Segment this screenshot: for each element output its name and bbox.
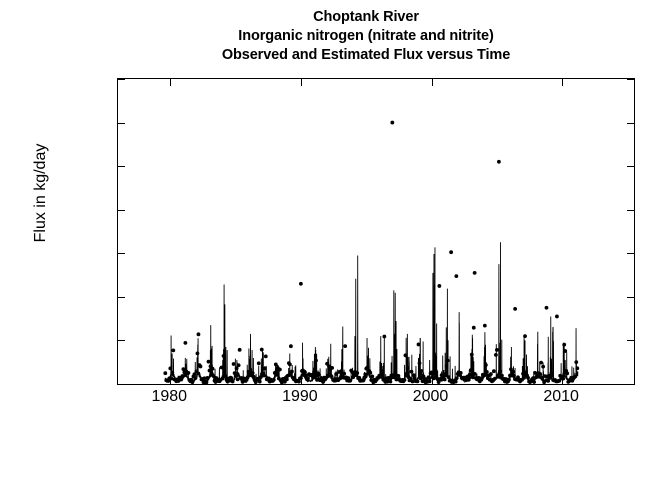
chart-title-line-3: Observed and Estimated Flux versus Time	[60, 46, 672, 65]
observed-point	[507, 378, 511, 382]
observed-point	[416, 380, 420, 384]
observed-point	[431, 372, 435, 376]
data-layer	[118, 79, 634, 384]
observed-point	[183, 341, 187, 345]
observed-point	[511, 370, 515, 374]
observed-point	[550, 373, 554, 377]
observed-point	[484, 363, 488, 367]
observed-point	[485, 370, 489, 374]
observed-point	[222, 354, 226, 358]
observed-point	[469, 368, 473, 372]
y-tick-right-0	[627, 384, 634, 385]
observed-point	[199, 365, 203, 369]
observed-point	[163, 371, 167, 375]
observed-point	[299, 282, 303, 286]
plot-inner	[118, 79, 634, 384]
observed-point	[444, 372, 448, 376]
y-tick-right-10000	[627, 166, 634, 167]
observed-point	[231, 380, 235, 384]
y-tick-right-2000	[627, 340, 634, 341]
observed-point	[532, 380, 536, 384]
observed-point	[262, 374, 266, 378]
observed-point	[498, 369, 502, 373]
observed-point	[274, 362, 278, 366]
observed-point	[417, 343, 421, 347]
y-tick-right-12000	[627, 123, 634, 124]
chart-title-line-1: Choptank River	[60, 8, 672, 27]
observed-point	[445, 364, 449, 368]
observed-point	[495, 348, 499, 352]
observed-point	[447, 375, 451, 379]
observed-point	[573, 375, 577, 379]
observed-point	[404, 353, 408, 357]
observed-point	[258, 380, 262, 384]
chart-title-line-2: Inorganic nitrogen (nitrate and nitrite)	[60, 27, 672, 46]
y-tick-2000	[118, 340, 125, 341]
x-tick-top-2000	[432, 79, 433, 86]
observed-point	[541, 365, 545, 369]
observed-point	[420, 369, 424, 373]
observed-point	[418, 361, 422, 365]
observed-point	[289, 344, 293, 348]
observed-point	[467, 378, 471, 382]
x-tick-top-1980	[170, 79, 171, 86]
observed-point	[545, 306, 549, 310]
estimated-flux-line	[165, 242, 578, 381]
x-tick-1990	[301, 377, 302, 384]
observed-point	[482, 374, 486, 378]
observed-point	[312, 370, 316, 374]
observed-point	[563, 349, 567, 353]
observed-point	[574, 360, 578, 364]
observed-point	[342, 372, 346, 376]
observed-point	[468, 373, 472, 377]
observed-point	[434, 369, 438, 373]
observed-point	[538, 372, 542, 376]
observed-point	[513, 307, 517, 311]
x-tick-2000	[432, 377, 433, 384]
observed-point	[220, 366, 224, 370]
observed-point	[455, 376, 459, 380]
observed-point	[246, 375, 250, 379]
observed-point	[523, 334, 527, 338]
observed-point	[522, 376, 526, 380]
observed-point	[526, 376, 530, 380]
x-tick-label-2000: 2000	[371, 389, 491, 405]
observed-point	[187, 371, 191, 375]
observed-point	[459, 371, 463, 375]
observed-point	[252, 375, 256, 379]
observed-point	[306, 376, 310, 380]
observed-point	[206, 376, 210, 380]
observed-point	[355, 371, 359, 375]
observed-point	[427, 375, 431, 379]
observed-point	[238, 348, 242, 352]
observed-point	[179, 377, 183, 381]
observed-point	[168, 367, 172, 371]
x-tick-label-1980: 1980	[109, 389, 229, 405]
observed-point	[194, 376, 198, 380]
observed-point	[237, 363, 241, 367]
observed-point	[470, 353, 474, 357]
observed-point	[363, 373, 367, 377]
observed-point	[403, 378, 407, 382]
observed-point	[196, 351, 200, 355]
observed-flux-points	[163, 121, 579, 384]
observed-point	[388, 380, 392, 384]
observed-point	[370, 375, 374, 379]
observed-point	[191, 380, 195, 384]
observed-point	[317, 373, 321, 377]
x-tick-2010	[562, 377, 563, 384]
figure-canvas: Choptank River Inorganic nitrogen (nitra…	[0, 0, 672, 480]
observed-point	[368, 371, 372, 375]
observed-point	[492, 369, 496, 373]
observed-point	[212, 374, 216, 378]
y-tick-right-4000	[627, 297, 634, 298]
observed-point	[397, 374, 401, 378]
observed-point	[472, 326, 476, 330]
observed-point	[405, 372, 409, 376]
x-tick-top-1990	[301, 79, 302, 86]
observed-point	[473, 372, 477, 376]
x-tick-1980	[170, 377, 171, 384]
observed-point	[260, 348, 264, 352]
y-tick-10000	[118, 166, 125, 167]
observed-point	[539, 361, 543, 365]
observed-point	[197, 332, 201, 336]
observed-point	[555, 315, 559, 319]
observed-point	[257, 361, 261, 365]
observed-point	[449, 250, 453, 254]
observed-point	[288, 362, 292, 366]
observed-point	[390, 121, 394, 125]
observed-point	[497, 160, 501, 164]
observed-point	[473, 271, 477, 275]
observed-point	[278, 368, 282, 372]
y-tick-right-8000	[627, 210, 634, 211]
observed-point	[285, 378, 289, 382]
observed-point	[483, 324, 487, 328]
y-tick-0	[118, 384, 125, 385]
y-tick-right-14000	[627, 79, 634, 80]
observed-point	[181, 367, 185, 371]
observed-point	[494, 353, 498, 357]
observed-point	[443, 378, 447, 382]
observed-point	[207, 360, 211, 364]
observed-point	[454, 380, 458, 384]
observed-point	[290, 370, 294, 374]
observed-point	[211, 367, 215, 371]
x-tick-top-2010	[562, 79, 563, 86]
observed-point	[565, 371, 569, 375]
observed-point	[303, 370, 307, 374]
x-tick-label-1990: 1990	[240, 389, 360, 405]
y-tick-4000	[118, 297, 125, 298]
observed-point	[410, 370, 414, 374]
observed-point	[562, 343, 566, 347]
observed-point	[263, 367, 267, 371]
observed-point	[512, 374, 516, 378]
observed-point	[170, 371, 174, 375]
x-tick-label-2010: 2010	[501, 389, 621, 405]
observed-point	[348, 379, 352, 383]
observed-point	[362, 376, 366, 380]
y-tick-14000	[118, 79, 125, 80]
observed-point	[272, 378, 276, 382]
observed-point	[380, 369, 384, 373]
observed-point	[171, 348, 175, 352]
observed-point	[264, 354, 268, 358]
observed-point	[234, 374, 238, 378]
observed-point	[343, 344, 347, 348]
observed-point	[180, 374, 184, 378]
observed-point	[330, 366, 334, 370]
observed-point	[382, 335, 386, 339]
observed-point	[575, 366, 579, 370]
plot-area	[117, 78, 635, 385]
y-tick-right-6000	[627, 253, 634, 254]
observed-point	[365, 366, 369, 370]
observed-point	[251, 371, 255, 375]
chart-title: Choptank River Inorganic nitrogen (nitra…	[0, 8, 672, 65]
observed-point	[406, 366, 410, 370]
observed-point	[437, 284, 441, 288]
observed-point	[329, 374, 333, 378]
observed-point	[232, 362, 236, 366]
observed-point	[195, 369, 199, 373]
observed-point	[286, 374, 290, 378]
observed-point	[273, 371, 277, 375]
y-axis-title: Flux in kg/day	[32, 83, 50, 303]
y-tick-8000	[118, 210, 125, 211]
observed-point	[500, 374, 504, 378]
observed-point	[314, 359, 318, 363]
y-tick-6000	[118, 253, 125, 254]
observed-point	[454, 274, 458, 278]
y-tick-12000	[118, 123, 125, 124]
observed-point	[446, 359, 450, 363]
observed-point	[489, 372, 493, 376]
